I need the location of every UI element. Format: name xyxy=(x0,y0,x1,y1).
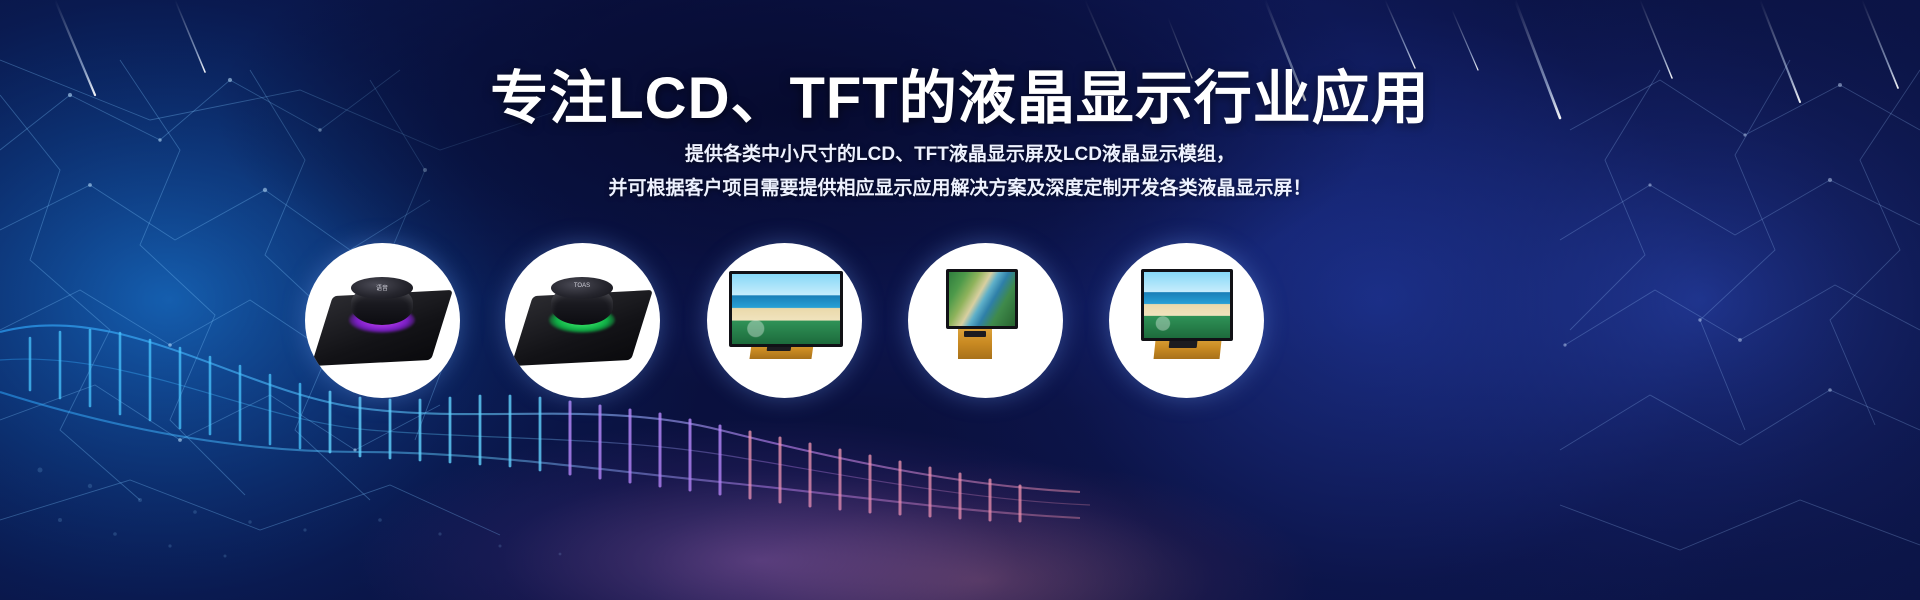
lcd-screen-image xyxy=(1144,272,1230,338)
product-circle-round-speaker-green[interactable]: TOAS xyxy=(505,243,660,398)
product-image-tft-small xyxy=(918,263,1053,378)
product-circle-tft-small[interactable] xyxy=(908,243,1063,398)
product-image-round-speaker-purple: 语音 xyxy=(315,263,450,378)
lcd-screen-image xyxy=(732,274,840,344)
product-image-tft-square xyxy=(1119,263,1254,378)
hero-banner: 专注LCD、TFT的液晶显示行业应用 提供各类中小尺寸的LCD、TFT液晶显示屏… xyxy=(0,0,1920,600)
banner-title: 专注LCD、TFT的液晶显示行业应用 xyxy=(0,68,1920,130)
product-circle-tft-square[interactable] xyxy=(1109,243,1264,398)
product-circle-round-speaker-purple[interactable]: 语音 xyxy=(305,243,460,398)
lcd-panel xyxy=(946,269,1018,329)
driver-chip xyxy=(1169,340,1198,348)
lcd-panel xyxy=(729,271,843,347)
lcd-screen-image xyxy=(949,272,1015,326)
driver-chip xyxy=(964,331,986,337)
product-circle-tft-landscape[interactable] xyxy=(707,243,862,398)
product-thumbnail-row: 语音 TOAS xyxy=(0,243,1920,403)
product-image-round-speaker-green: TOAS xyxy=(515,263,650,378)
product-label-1: TOAS xyxy=(551,283,613,289)
product-image-tft-landscape xyxy=(717,263,852,378)
lcd-panel xyxy=(1141,269,1233,341)
banner-subtitle-line-1: 提供各类中小尺寸的LCD、TFT液晶显示屏及LCD液晶显示模组， xyxy=(0,140,1920,170)
product-label-0: 语音 xyxy=(351,283,413,292)
banner-subtitle-line-2: 并可根据客户项目需要提供相应显示应用解决方案及深度定制开发各类液晶显示屏！ xyxy=(0,174,1920,204)
